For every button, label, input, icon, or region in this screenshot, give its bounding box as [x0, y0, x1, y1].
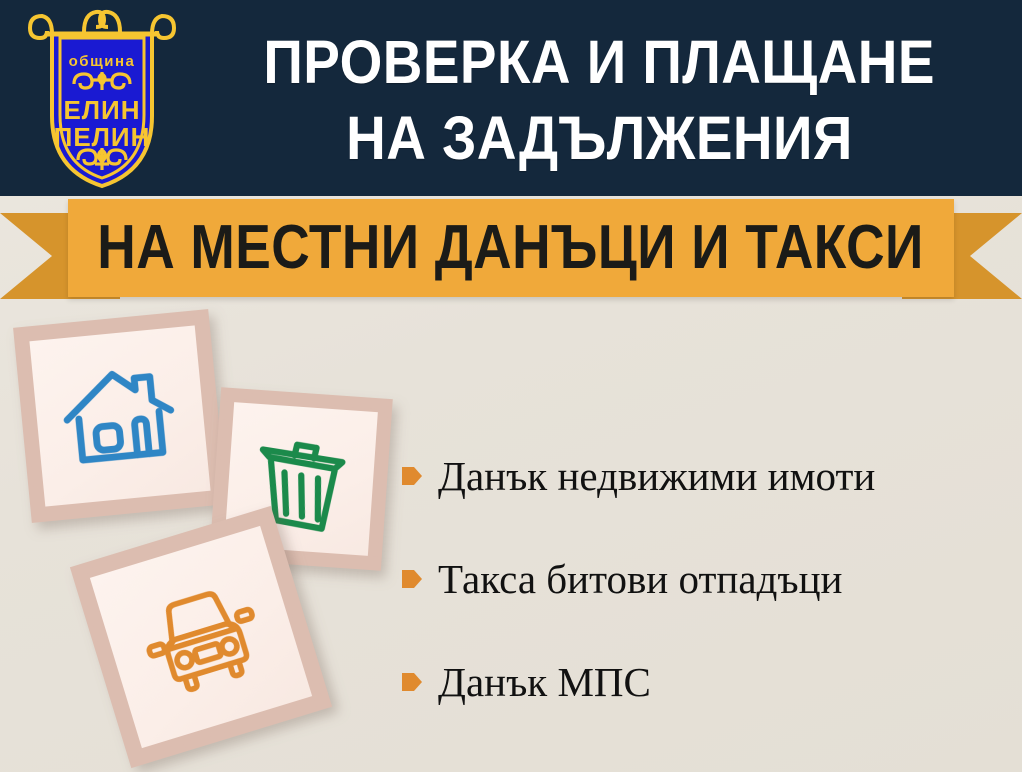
- ribbon-banner: НА МЕСТНИ ДАНЪЦИ И ТАКСИ: [68, 199, 954, 297]
- svg-text:ПЕЛИН: ПЕЛИН: [54, 122, 151, 152]
- list-item-label: Данък МПС: [438, 659, 651, 705]
- page-title: ПРОВЕРКА И ПЛАЩАНЕ НА ЗАДЪЛЖЕНИЯ: [190, 14, 1008, 186]
- list-item[interactable]: Данък недвижими имоти: [402, 424, 1012, 527]
- list-item-label: Данък недвижими имоти: [438, 453, 875, 499]
- stamp-card-house: [13, 309, 227, 523]
- tax-type-list: Данък недвижими имоти Такса битови отпад…: [402, 424, 1012, 733]
- list-item-label: Такса битови отпадъци: [438, 556, 842, 602]
- list-item[interactable]: Такса битови отпадъци: [402, 527, 1012, 630]
- stamp-paper-house: [29, 325, 210, 506]
- list-item[interactable]: Данък МПС: [402, 630, 1012, 733]
- svg-text:община: община: [69, 53, 136, 70]
- bullet-arrow-icon: [402, 567, 422, 591]
- title-line-1: ПРОВЕРКА И ПЛАЩАНЕ: [263, 24, 935, 100]
- coat-of-arms-icon: община ЕЛИН ПЕЛИН: [22, 4, 182, 194]
- svg-text:ЕЛИН: ЕЛИН: [63, 95, 140, 125]
- house-icon: [56, 357, 184, 476]
- bullet-arrow-icon: [402, 670, 422, 694]
- bullet-arrow-icon: [402, 464, 422, 488]
- ribbon-text: НА МЕСТНИ ДАНЪЦИ И ТАКСИ: [98, 217, 925, 279]
- municipality-logo: община ЕЛИН ПЕЛИН: [22, 4, 182, 194]
- title-line-2: НА ЗАДЪЛЖЕНИЯ: [346, 100, 853, 176]
- car-icon: [127, 569, 274, 705]
- poster-root: община ЕЛИН ПЕЛИН: [0, 0, 1022, 772]
